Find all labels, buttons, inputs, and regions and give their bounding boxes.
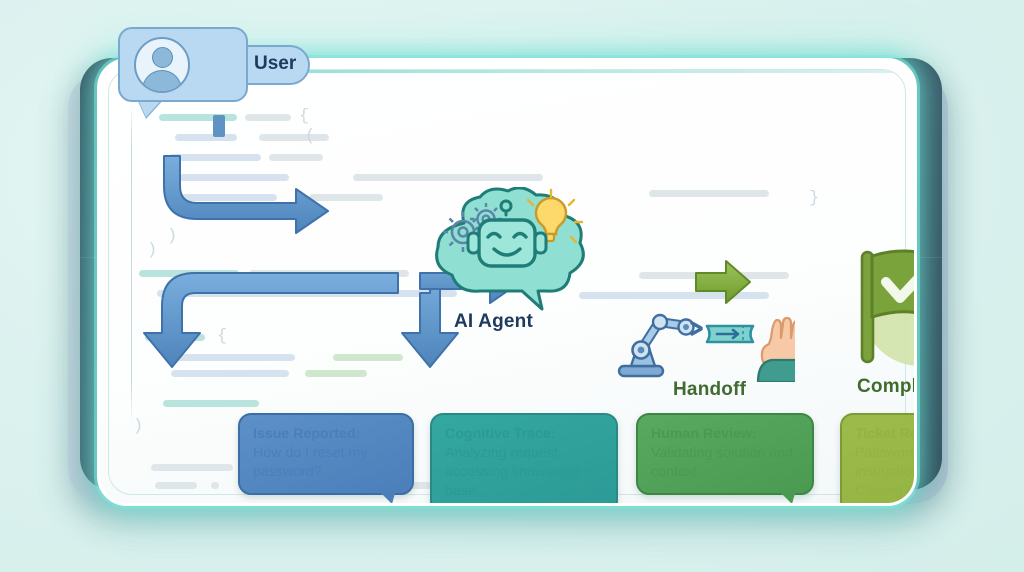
node-label-completed: Completed: [857, 376, 917, 398]
user-connector-stem: [213, 115, 225, 137]
node-label-user: User: [254, 53, 296, 75]
bubble-tail: [778, 490, 796, 504]
status-bubble-issue-reported[interactable]: Issue Reported: How do I reset my passwo…: [238, 413, 414, 495]
bubble-body: Validating solution and context.: [651, 445, 793, 480]
bubble-tail: [378, 490, 396, 504]
connector-handoff-to-completed: [696, 261, 750, 303]
status-bubble-human-review[interactable]: Human Review: Validating solution and co…: [636, 413, 814, 495]
status-bubble-ticket-resolved[interactable]: Ticket Resolved: Password reset instruct…: [840, 413, 917, 506]
status-bubble-cognitive-trace[interactable]: Cognitive Trace: Analyzing request, acce…: [430, 413, 618, 506]
completed-icon[interactable]: [842, 246, 917, 376]
connector-agent-to-issue: [144, 273, 398, 367]
user-node[interactable]: User: [118, 27, 310, 102]
node-label-ai-agent: AI Agent: [454, 311, 533, 333]
bubble-title: Ticket Resolved:: [855, 425, 917, 444]
connector-user-to-agent: [164, 156, 328, 233]
bubble-body: Analyzing request, accessing knowledge b…: [445, 445, 580, 499]
ai-agent-icon[interactable]: [418, 187, 598, 317]
avatar-body: [142, 70, 182, 93]
handoff-icon-group[interactable]: [615, 304, 795, 382]
bubble-title: Human Review:: [651, 425, 799, 444]
bubble-title: Cognitive Trace:: [445, 425, 603, 444]
node-label-handoff: Handoff: [673, 379, 746, 401]
robot-arm-icon: [619, 315, 701, 376]
bubble-title: Issue Reported:: [253, 425, 399, 444]
bubble-body: How do I reset my password?: [253, 445, 367, 480]
avatar-head: [152, 47, 173, 68]
human-hand-icon: [758, 318, 795, 382]
bubble-body: Password reset instructions sent. Closin…: [855, 445, 917, 499]
user-avatar-icon: [134, 37, 190, 93]
ticket-icon: [707, 325, 753, 343]
